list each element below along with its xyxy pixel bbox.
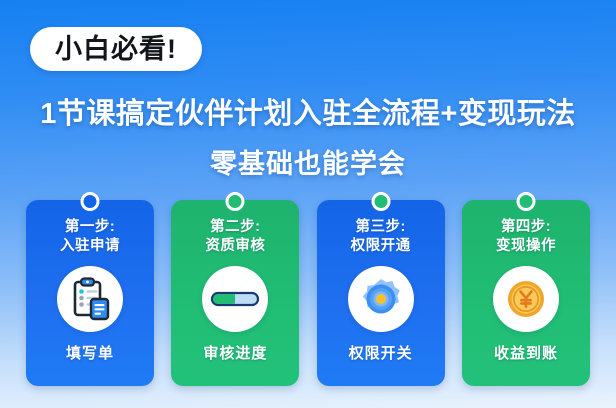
poster-headline: 1节课搞定伙伴计划入驻全流程+变现玩法: [0, 90, 616, 132]
step-card-3-step-name: 权限开通: [351, 237, 411, 256]
gear-icon: [348, 266, 414, 332]
step-connector-dot-1: [81, 192, 100, 211]
step-card-1-step-label: 第一步:: [65, 218, 115, 237]
step-card-2-step-name: 资质审核: [205, 237, 265, 256]
highlight-badge: 小白必看!: [30, 27, 202, 71]
yuan-coin-icon: [493, 266, 559, 332]
step-card-4[interactable]: 第四步: 变现操作 收益到账: [462, 200, 590, 386]
clipboard-checklist-icon: [57, 266, 123, 332]
step-card-4-step-label: 第四步:: [501, 218, 551, 237]
step-card-1-footer: 填写单: [66, 342, 114, 363]
step-card-2-footer: 审核进度: [203, 342, 267, 363]
poster-subheadline: 零基础也能学会: [0, 142, 616, 181]
step-connector-dot-2: [226, 192, 245, 211]
step-card-1-step-name: 入驻申请: [60, 237, 120, 256]
step-connector-dot-4: [516, 192, 535, 211]
step-card-2-step-label: 第二步:: [210, 218, 260, 237]
step-card-4-step-name: 变现操作: [496, 237, 556, 256]
step-card-3-footer: 权限开关: [349, 342, 413, 363]
promo-poster: 小白必看! 1节课搞定伙伴计划入驻全流程+变现玩法 零基础也能学会 第一步: 入…: [0, 0, 616, 408]
highlight-badge-label: 小白必看!: [55, 36, 177, 63]
step-card-4-footer: 收益到账: [494, 342, 558, 363]
step-card-list: 第一步: 入驻申请 填写单: [26, 200, 590, 390]
step-card-3[interactable]: 第三步: 权限开通 权限开关: [317, 200, 445, 386]
step-card-1[interactable]: 第一步: 入驻申请 填写单: [26, 200, 154, 386]
step-card-3-step-label: 第三步:: [355, 218, 405, 237]
step-card-2[interactable]: 第二步: 资质审核 审核进度: [171, 200, 299, 386]
progress-bar-icon: [202, 266, 268, 332]
step-connector-dot-3: [371, 192, 390, 211]
